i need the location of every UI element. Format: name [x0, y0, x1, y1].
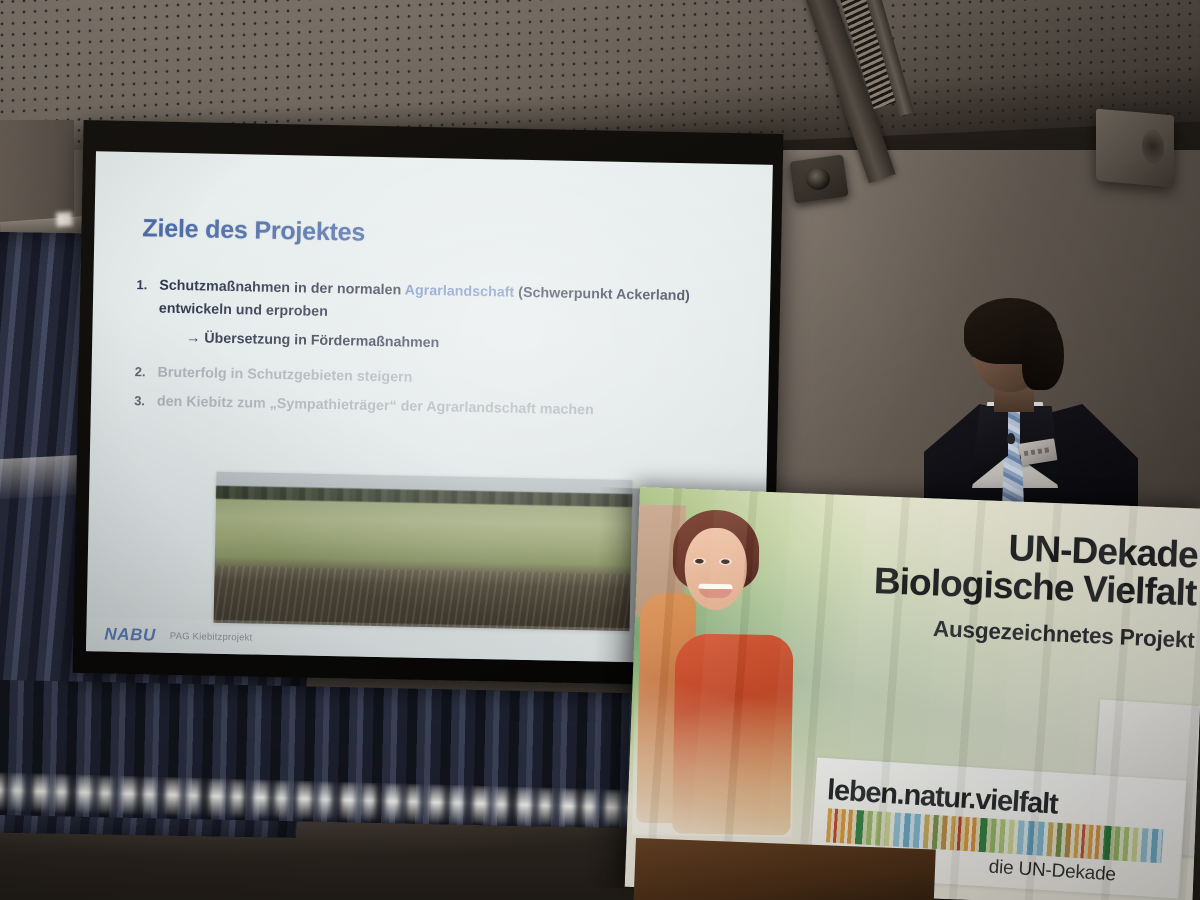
nabu-logo: NABU — [104, 625, 156, 646]
bullet-number: 2. — [123, 361, 157, 385]
slide-footer-project: PAG Kiebitzprojekt — [170, 630, 253, 643]
hair-back — [1022, 318, 1064, 390]
photo-treeline — [216, 485, 632, 507]
lapel-pin-icon — [1007, 433, 1015, 444]
banner-headline-block: UN-Dekade Biologische Vielfalt Ausgezeic… — [784, 521, 1198, 653]
bullet-number: 3. — [123, 390, 157, 414]
bullet-number: 1. — [125, 274, 160, 321]
bullet-text: den Kiebitz zum „Sympathieträger“ der Ag… — [157, 391, 594, 423]
bullet-text: Bruterfolg in Schutzgebieten steigern — [157, 362, 412, 390]
slide-bullet-1: 1. Schutzmaßnahmen in der normalen Agrar… — [125, 274, 745, 332]
portrait-fade — [632, 505, 798, 838]
projector-lens-icon — [806, 168, 830, 190]
bullet-text: Schutzmaßnahmen in der normalen Agrarlan… — [159, 275, 745, 333]
slide-bullet-list: 1. Schutzmaßnahmen in der normalen Agrar… — [123, 274, 745, 431]
slide-photo-farmland — [214, 472, 633, 631]
bullet-highlight: Agrarlandschaft — [405, 283, 515, 301]
presentation-room-photo: Ziele des Projektes 1. Schutzmaßnahmen i… — [0, 0, 1200, 900]
slide-sub-item: → Übersetzung in Fördermaßnahmen — [186, 330, 743, 357]
wall-speaker-icon — [1096, 109, 1174, 188]
slide-bullet-3: 3. den Kiebitz zum „Sympathieträger“ der… — [123, 390, 742, 425]
logo-subtitle: die UN-Dekade — [988, 857, 1116, 887]
un-decade-banner: UN-Dekade Biologische Vielfalt Ausgezeic… — [625, 487, 1200, 900]
banner-portrait-woman — [632, 505, 798, 838]
slide-title: Ziele des Projektes — [142, 214, 365, 247]
podium-wood-panel — [634, 838, 936, 900]
bullet-text-before: Schutzmaßnahmen in der normalen — [159, 278, 405, 299]
